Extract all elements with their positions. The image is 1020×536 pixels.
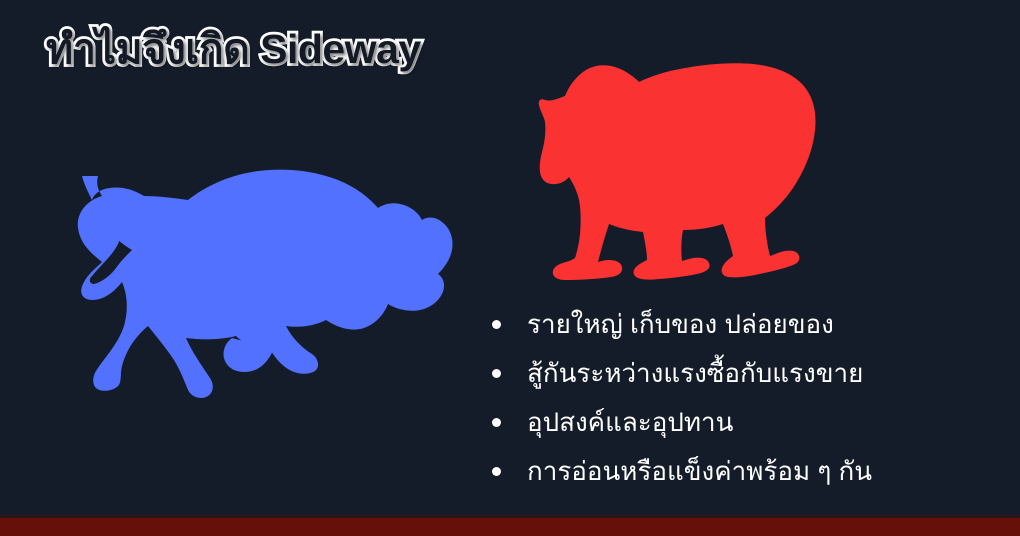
bullet-dot-icon [492,369,501,378]
page-title: ทำไมจึงเกิด Sideway [46,28,421,71]
list-item-label: อุปสงค์และอุปทาน [527,408,733,437]
bull-icon [62,168,472,416]
list-item-label: รายใหญ่ เก็บของ ปล่อยของ [527,310,834,339]
title-block: ทำไมจึงเกิด Sideway [46,28,421,71]
bear-icon [527,58,847,290]
bullet-dot-icon [492,320,501,329]
list-item: สู้กันระหว่างแรงซื้อกับแรงขาย [492,349,1012,398]
list-item: รายใหญ่ เก็บของ ปล่อยของ [492,300,1012,349]
bullet-dot-icon [492,467,501,476]
slide-canvas: ทำไมจึงเกิด Sideway รายใหญ่ เก็บของ ปล่อ… [0,0,1020,536]
bear-illustration [527,58,847,290]
footer-strip [0,518,1020,536]
bull-illustration [62,168,472,416]
list-item: อุปสงค์และอุปทาน [492,398,1012,447]
bullet-dot-icon [492,418,501,427]
bullet-list: รายใหญ่ เก็บของ ปล่อยของ สู้กันระหว่างแร… [492,300,1012,496]
list-item-label: การอ่อนหรือแข็งค่าพร้อม ๆ กัน [527,457,872,486]
list-item-label: สู้กันระหว่างแรงซื้อกับแรงขาย [527,359,863,388]
list-item: การอ่อนหรือแข็งค่าพร้อม ๆ กัน [492,447,1012,496]
